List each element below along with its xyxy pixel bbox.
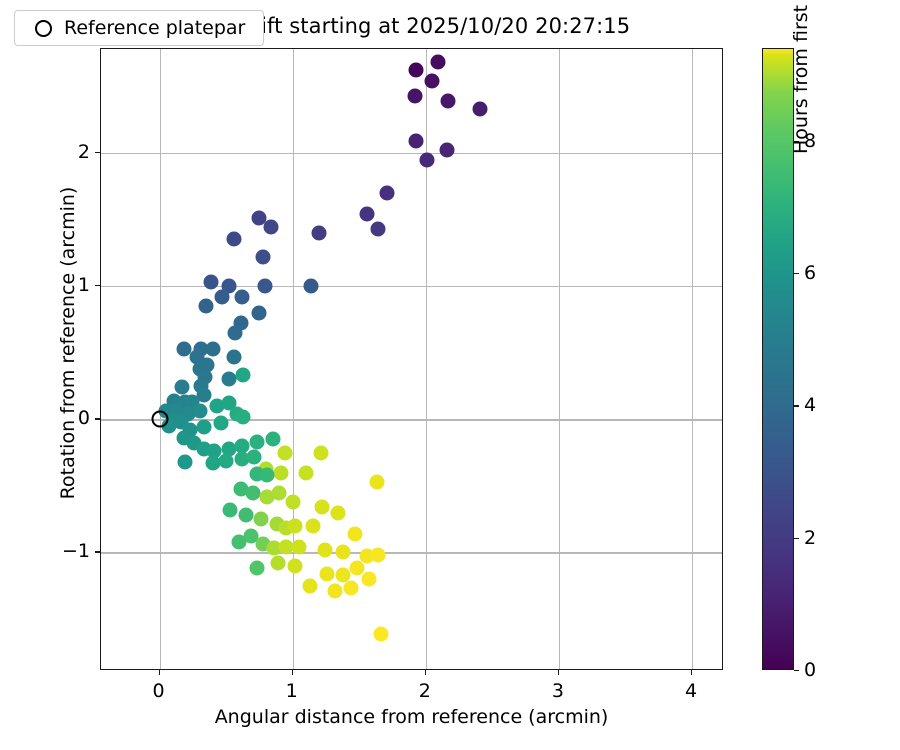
scatter-point (245, 485, 260, 500)
scatter-point (302, 578, 317, 593)
x-tick-mark (292, 670, 293, 675)
gridline-horizontal (101, 419, 722, 420)
scatter-point (223, 502, 238, 517)
scatter-point (420, 152, 435, 167)
y-tick-mark (95, 418, 100, 419)
colorbar-tick-label: 0 (804, 659, 816, 681)
scatter-point (235, 289, 250, 304)
scatter-point (177, 454, 192, 469)
scatter-point (264, 220, 279, 235)
x-tick-mark (159, 670, 160, 675)
scatter-point (232, 534, 247, 549)
gridline-vertical (426, 49, 427, 669)
scatter-point (430, 55, 445, 70)
scatter-point (249, 561, 264, 576)
scatter-point (192, 404, 207, 419)
gridline-vertical (692, 49, 693, 669)
y-tick-mark (95, 285, 100, 286)
scatter-point (227, 349, 242, 364)
scatter-point (228, 325, 243, 340)
legend-label: Reference platepar (64, 17, 251, 39)
scatter-point (360, 207, 375, 222)
scatter-point (236, 368, 251, 383)
scatter-point (369, 474, 384, 489)
scatter-point (260, 468, 275, 483)
x-tick-mark (425, 670, 426, 675)
scatter-point (299, 465, 314, 480)
x-tick-label: 3 (552, 680, 564, 702)
scatter-point (249, 434, 264, 449)
scatter-point (288, 518, 303, 533)
scatter-point (441, 93, 456, 108)
scatter-point (373, 626, 388, 641)
scatter-point (175, 380, 190, 395)
gridline-horizontal (101, 286, 722, 287)
scatter-point (253, 512, 268, 527)
scatter-point (285, 494, 300, 509)
scatter-point (348, 526, 363, 541)
scatter-point (409, 133, 424, 148)
scatter-point (473, 101, 488, 116)
scatter-point (328, 584, 343, 599)
scatter-point (292, 540, 307, 555)
scatter-point (196, 420, 211, 435)
colorbar-tick-mark (794, 405, 799, 406)
scatter-point (265, 432, 280, 447)
gridline-vertical (293, 49, 294, 669)
scatter-point (272, 485, 287, 500)
colorbar-tick-label: 4 (804, 394, 816, 416)
colorbar-tick-label: 2 (804, 527, 816, 549)
scatter-point (199, 299, 214, 314)
figure-canvas: FOV centre drift starting at 2025/10/20 … (0, 0, 900, 750)
x-tick-mark (691, 670, 692, 675)
scatter-point (305, 518, 320, 533)
scatter-point (227, 232, 242, 247)
scatter-point (344, 581, 359, 596)
y-tick-mark (95, 551, 100, 552)
x-tick-label: 2 (419, 680, 431, 702)
scatter-point (271, 556, 286, 571)
scatter-point (312, 225, 327, 240)
scatter-point (221, 372, 236, 387)
gridline-horizontal (101, 153, 722, 154)
colorbar-tick-mark (794, 670, 799, 671)
scatter-point (320, 566, 335, 581)
scatter-point (409, 63, 424, 78)
scatter-point (425, 73, 440, 88)
x-tick-mark (558, 670, 559, 675)
scatter-point (236, 409, 251, 424)
scatter-point (314, 500, 329, 515)
scatter-point (247, 449, 262, 464)
scatter-point (361, 572, 376, 587)
scatter-point (205, 341, 220, 356)
legend: Reference platepar (14, 10, 264, 46)
scatter-point (317, 542, 332, 557)
scatter-point (273, 465, 288, 480)
scatter-point (330, 505, 345, 520)
x-axis-label: Angular distance from reference (arcmin) (100, 706, 723, 728)
scatter-point (288, 558, 303, 573)
scatter-point (215, 289, 230, 304)
colorbar-tick-mark (794, 538, 799, 539)
scatter-point (257, 279, 272, 294)
x-tick-label: 1 (286, 680, 298, 702)
y-tick-mark (95, 152, 100, 153)
scatter-point (408, 88, 423, 103)
scatter-point (304, 279, 319, 294)
scatter-point (277, 445, 292, 460)
scatter-point (313, 445, 328, 460)
scatter-point (213, 416, 228, 431)
gridline-vertical (160, 49, 161, 669)
y-axis-label: Rotation from reference (arcmin) (57, 32, 79, 654)
scatter-point (252, 305, 267, 320)
scatter-point (370, 548, 385, 563)
scatter-point (204, 275, 219, 290)
gridline-vertical (559, 49, 560, 669)
scatter-point (380, 185, 395, 200)
plot-area (100, 48, 723, 670)
scatter-point (239, 508, 254, 523)
colorbar-label: Hours from first FF file (790, 0, 812, 359)
x-tick-label: 0 (153, 680, 165, 702)
scatter-point (219, 453, 234, 468)
scatter-point (256, 249, 271, 264)
legend-open-circle-icon (35, 20, 52, 37)
reference-platepar-marker (151, 411, 168, 428)
x-tick-label: 4 (685, 680, 697, 702)
scatter-point (440, 143, 455, 158)
scatter-point (336, 545, 351, 560)
scatter-point (370, 221, 385, 236)
gridline-horizontal (101, 552, 722, 553)
